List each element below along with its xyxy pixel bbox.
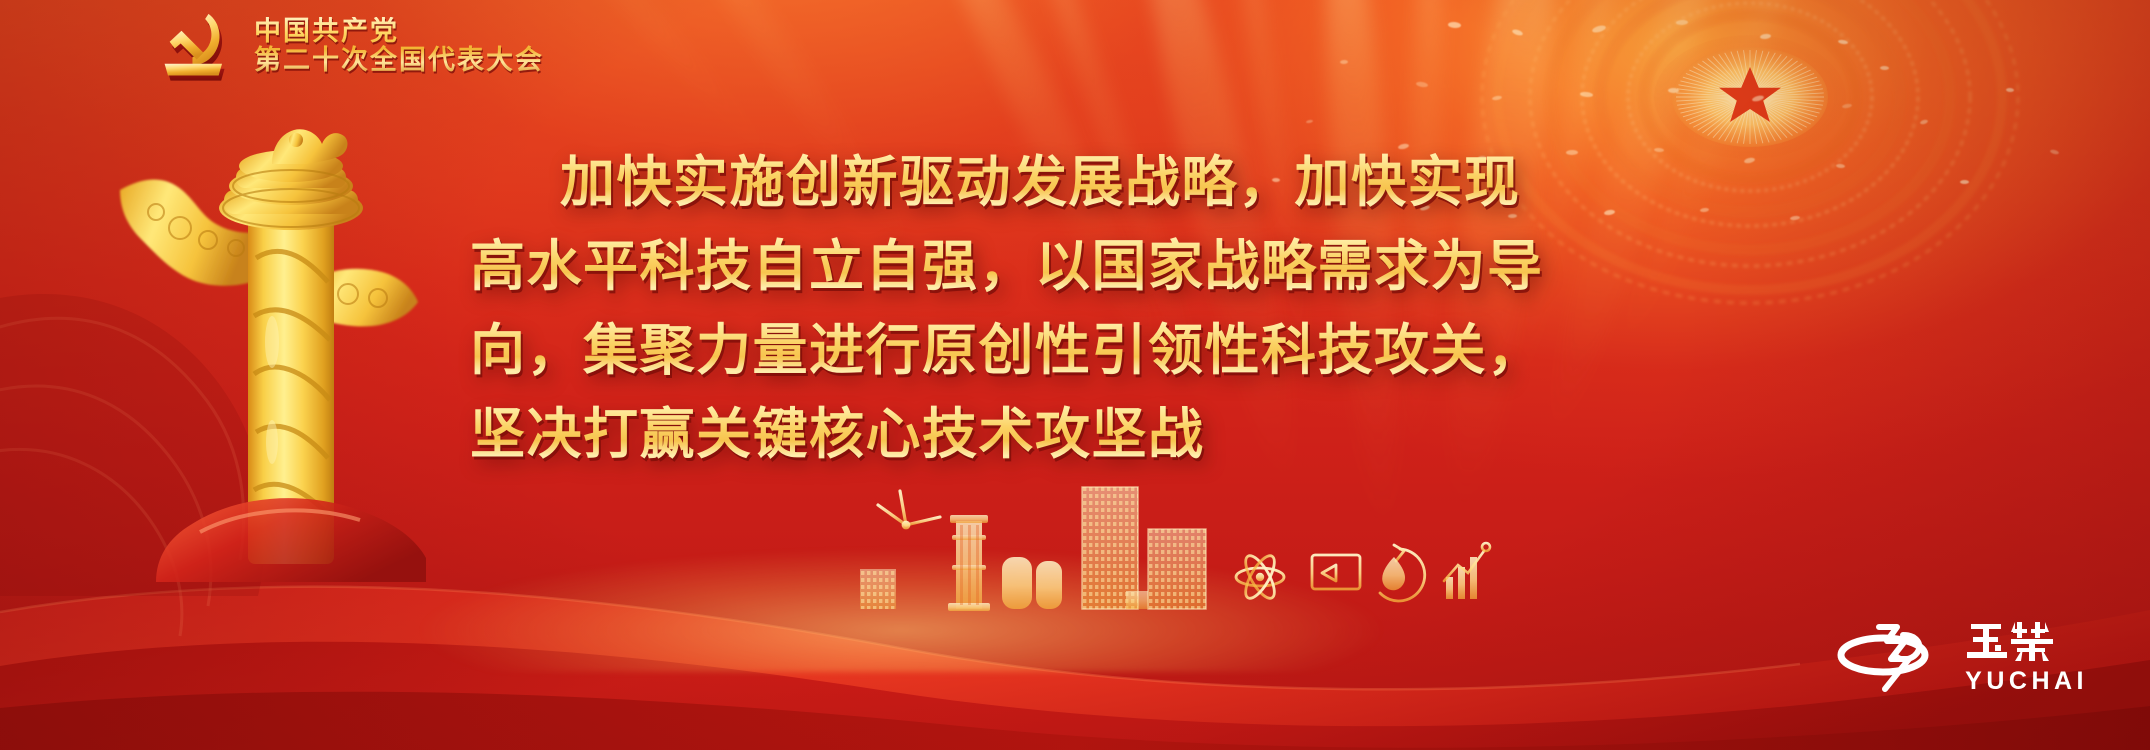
yuchai-logo: YUCHAI xyxy=(1837,618,2088,694)
congress-lockup: 中国共产党 第二十次全国代表大会 xyxy=(152,8,544,84)
slogan-line-4: 坚决打赢关键核心技术攻坚战 xyxy=(470,392,1710,476)
main-slogan: 加快实施创新驱动发展战略，加快实现 高水平科技自立自强，以国家战略需求为导 向，… xyxy=(470,140,1710,476)
yuchai-latin-name: YUCHAI xyxy=(1965,669,2088,694)
congress-line-2: 第二十次全国代表大会 xyxy=(254,46,544,75)
yuchai-chinese-name xyxy=(1965,618,2061,664)
slogan-line-2: 高水平科技自立自强，以国家战略需求为导 xyxy=(470,224,1710,308)
congress-line-1: 中国共产党 xyxy=(254,17,544,46)
yuchai-wordmark: YUCHAI xyxy=(1965,618,2088,694)
slogan-line-1: 加快实施创新驱动发展战略，加快实现 xyxy=(470,140,1710,224)
party-congress-banner: 中国共产党 第二十次全国代表大会 xyxy=(0,0,2150,750)
congress-name: 中国共产党 第二十次全国代表大会 xyxy=(254,17,544,74)
yuchai-ellipse-mark-icon xyxy=(1837,619,1945,693)
slogan-line-3: 向，集聚力量进行原创性引领性科技攻关， xyxy=(470,308,1710,392)
hammer-and-sickle-icon xyxy=(152,8,238,84)
